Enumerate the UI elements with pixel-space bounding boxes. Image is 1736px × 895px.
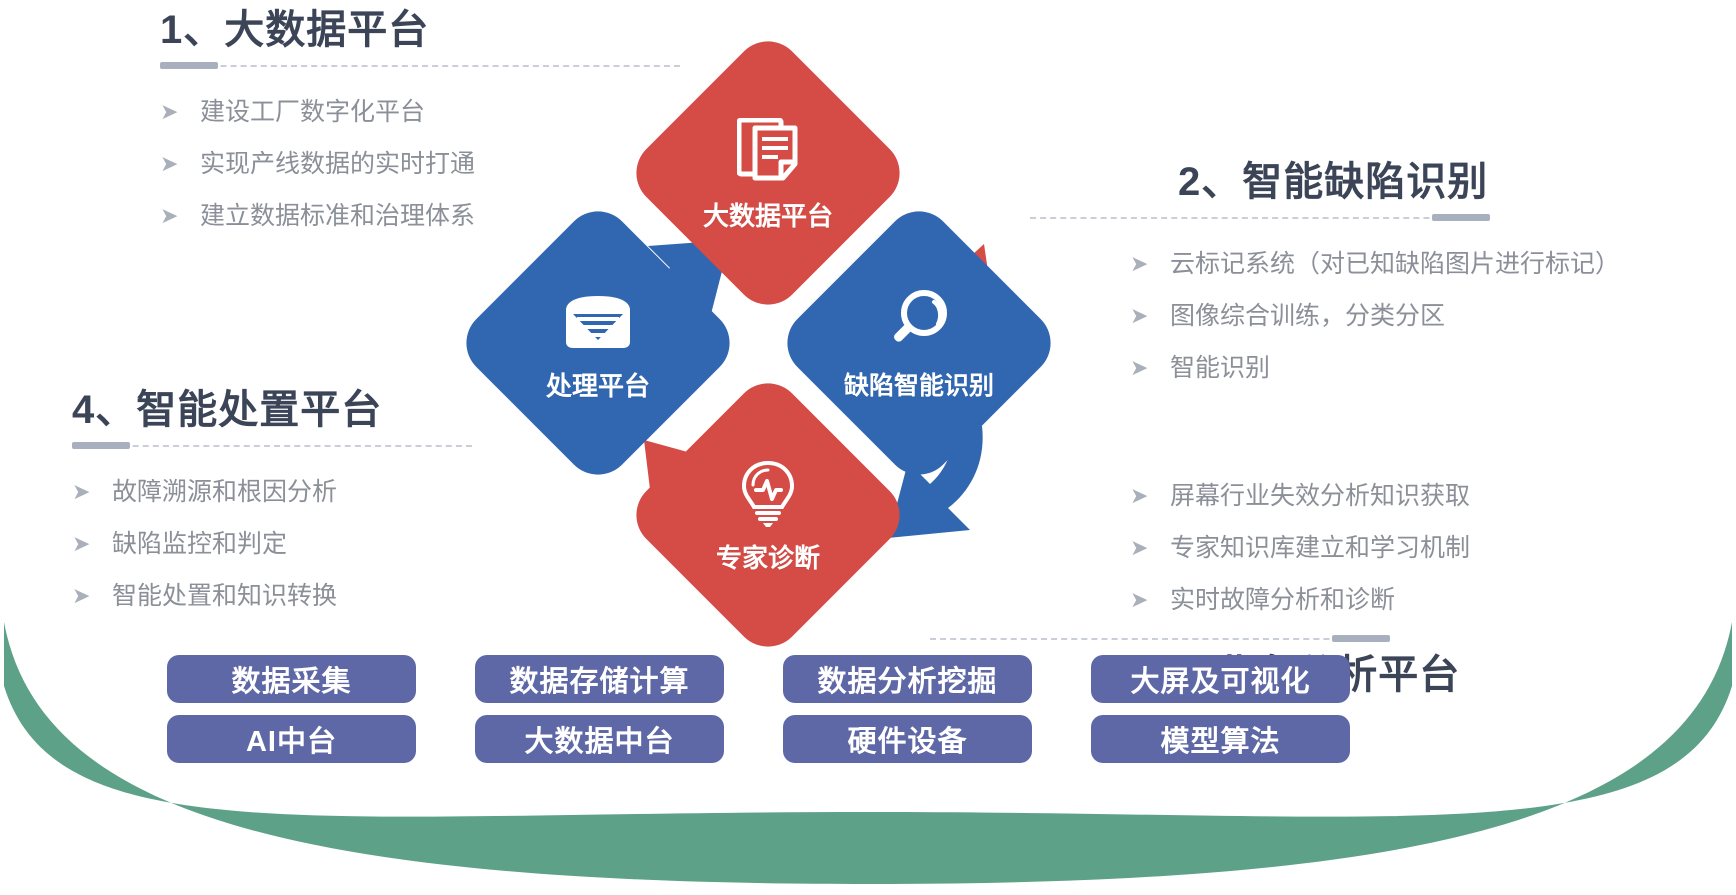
envelope-icon: [561, 284, 635, 358]
rule-dash: [930, 638, 1390, 640]
chevron-bullet-icon: ➤: [160, 96, 200, 128]
rule-cap: [1432, 214, 1490, 221]
rule-dash: [160, 65, 680, 67]
section-4-bullets: ➤ 故障溯源和根因分析 ➤ 缺陷监控和判定 ➤ 智能处置和知识转换: [72, 476, 592, 613]
bullet-text: 实时故障分析和诊断: [1170, 584, 1395, 618]
document-icon: [731, 114, 805, 188]
rule-cap: [160, 62, 218, 69]
chevron-bullet-icon: ➤: [1130, 248, 1170, 280]
rule-cap: [72, 442, 130, 449]
section-2-bullets: ➤ 云标记系统（对已知缺陷图片进行标记） ➤ 图像综合训练，分类分区 ➤ 智能识…: [1130, 248, 1720, 385]
chevron-bullet-icon: ➤: [1130, 532, 1170, 564]
bullet-text: 智能识别: [1170, 352, 1270, 386]
section-4-rule: [72, 442, 472, 450]
bullet-text: 专家知识库建立和学习机制: [1170, 532, 1470, 566]
bullet-item: ➤ 建设工厂数字化平台: [160, 96, 720, 130]
foundation-bar-top-4[interactable]: 大屏及可视化: [1091, 655, 1350, 703]
chevron-bullet-icon: ➤: [160, 148, 200, 180]
foundation-bar-bottom-1[interactable]: AI中台: [167, 715, 416, 763]
bullet-item: ➤ 屏幕行业失效分析知识获取: [1130, 480, 1720, 514]
node-left-label: 处理平台: [546, 366, 650, 403]
bullet-item: ➤ 智能识别: [1130, 352, 1720, 386]
node-top-label: 大数据平台: [703, 196, 833, 233]
bullet-item: ➤ 建立数据标准和治理体系: [160, 200, 720, 234]
bullet-item: ➤ 专家知识库建立和学习机制: [1130, 532, 1720, 566]
chevron-bullet-icon: ➤: [1130, 300, 1170, 332]
node-bottom-label: 专家诊断: [716, 538, 820, 575]
bullet-item: ➤ 实时故障分析和诊断: [1130, 584, 1720, 618]
bullet-text: 缺陷监控和判定: [112, 528, 287, 562]
chevron-bullet-icon: ➤: [72, 528, 112, 560]
bullet-item: ➤ 图像综合训练，分类分区: [1130, 300, 1720, 334]
foundation-bar-top-2[interactable]: 数据存储计算: [475, 655, 724, 703]
chevron-bullet-icon: ➤: [1130, 352, 1170, 384]
section-2-title: 2、智能缺陷识别: [1130, 160, 1720, 204]
magnifier-icon: [882, 284, 956, 358]
foundation-bar-bottom-4[interactable]: 模型算法: [1091, 715, 1350, 763]
section-3-bullets: ➤ 屏幕行业失效分析知识获取 ➤ 专家知识库建立和学习机制 ➤ 实时故障分析和诊…: [1130, 480, 1720, 617]
lightbulb-icon: [731, 456, 805, 530]
node-right-label: 缺陷智能识别: [844, 366, 994, 402]
chevron-bullet-icon: ➤: [1130, 480, 1170, 512]
bullet-item: ➤ 缺陷监控和判定: [72, 528, 592, 562]
bullet-text: 实现产线数据的实时打通: [200, 148, 475, 182]
foundation-bar-bottom-3[interactable]: 硬件设备: [783, 715, 1032, 763]
bullet-item: ➤ 智能处置和知识转换: [72, 580, 592, 614]
bullet-text: 建立数据标准和治理体系: [200, 200, 475, 234]
section-1-rule: [160, 62, 680, 70]
foundation-bar-bottom-2[interactable]: 大数据中台: [475, 715, 724, 763]
node-left[interactable]: 处理平台: [495, 240, 701, 446]
section-1-title: 1、大数据平台: [160, 8, 720, 52]
chevron-bullet-icon: ➤: [72, 476, 112, 508]
bullet-item: ➤ 故障溯源和根因分析: [72, 476, 592, 510]
chevron-bullet-icon: ➤: [160, 200, 200, 232]
bullet-text: 屏幕行业失效分析知识获取: [1170, 480, 1470, 514]
section-2-rule: [1030, 214, 1490, 222]
section-2: 2、智能缺陷识别 ➤ 云标记系统（对已知缺陷图片进行标记） ➤ 图像综合训练，分…: [1130, 160, 1720, 403]
foundation-bar-top-1[interactable]: 数据采集: [167, 655, 416, 703]
rule-dash: [1030, 217, 1490, 219]
bullet-item: ➤ 云标记系统（对已知缺陷图片进行标记）: [1130, 248, 1720, 282]
chevron-bullet-icon: ➤: [1130, 584, 1170, 616]
section-3-rule: [930, 635, 1390, 643]
rule-cap: [1332, 635, 1390, 642]
node-left-content: 处理平台: [495, 240, 701, 446]
bullet-text: 建设工厂数字化平台: [200, 96, 425, 130]
slide-canvas: 1、大数据平台 ➤ 建设工厂数字化平台 ➤ 实现产线数据的实时打通 ➤ 建立数据…: [0, 0, 1736, 895]
bullet-text: 云标记系统（对已知缺陷图片进行标记）: [1170, 248, 1620, 282]
rule-dash: [72, 445, 472, 447]
bullet-text: 图像综合训练，分类分区: [1170, 300, 1445, 334]
foundation-bar-top-3[interactable]: 数据分析挖掘: [783, 655, 1032, 703]
bullet-text: 智能处置和知识转换: [112, 580, 337, 614]
chevron-bullet-icon: ➤: [72, 580, 112, 612]
bullet-text: 故障溯源和根因分析: [112, 476, 337, 510]
section-1: 1、大数据平台 ➤ 建设工厂数字化平台 ➤ 实现产线数据的实时打通 ➤ 建立数据…: [160, 8, 720, 251]
